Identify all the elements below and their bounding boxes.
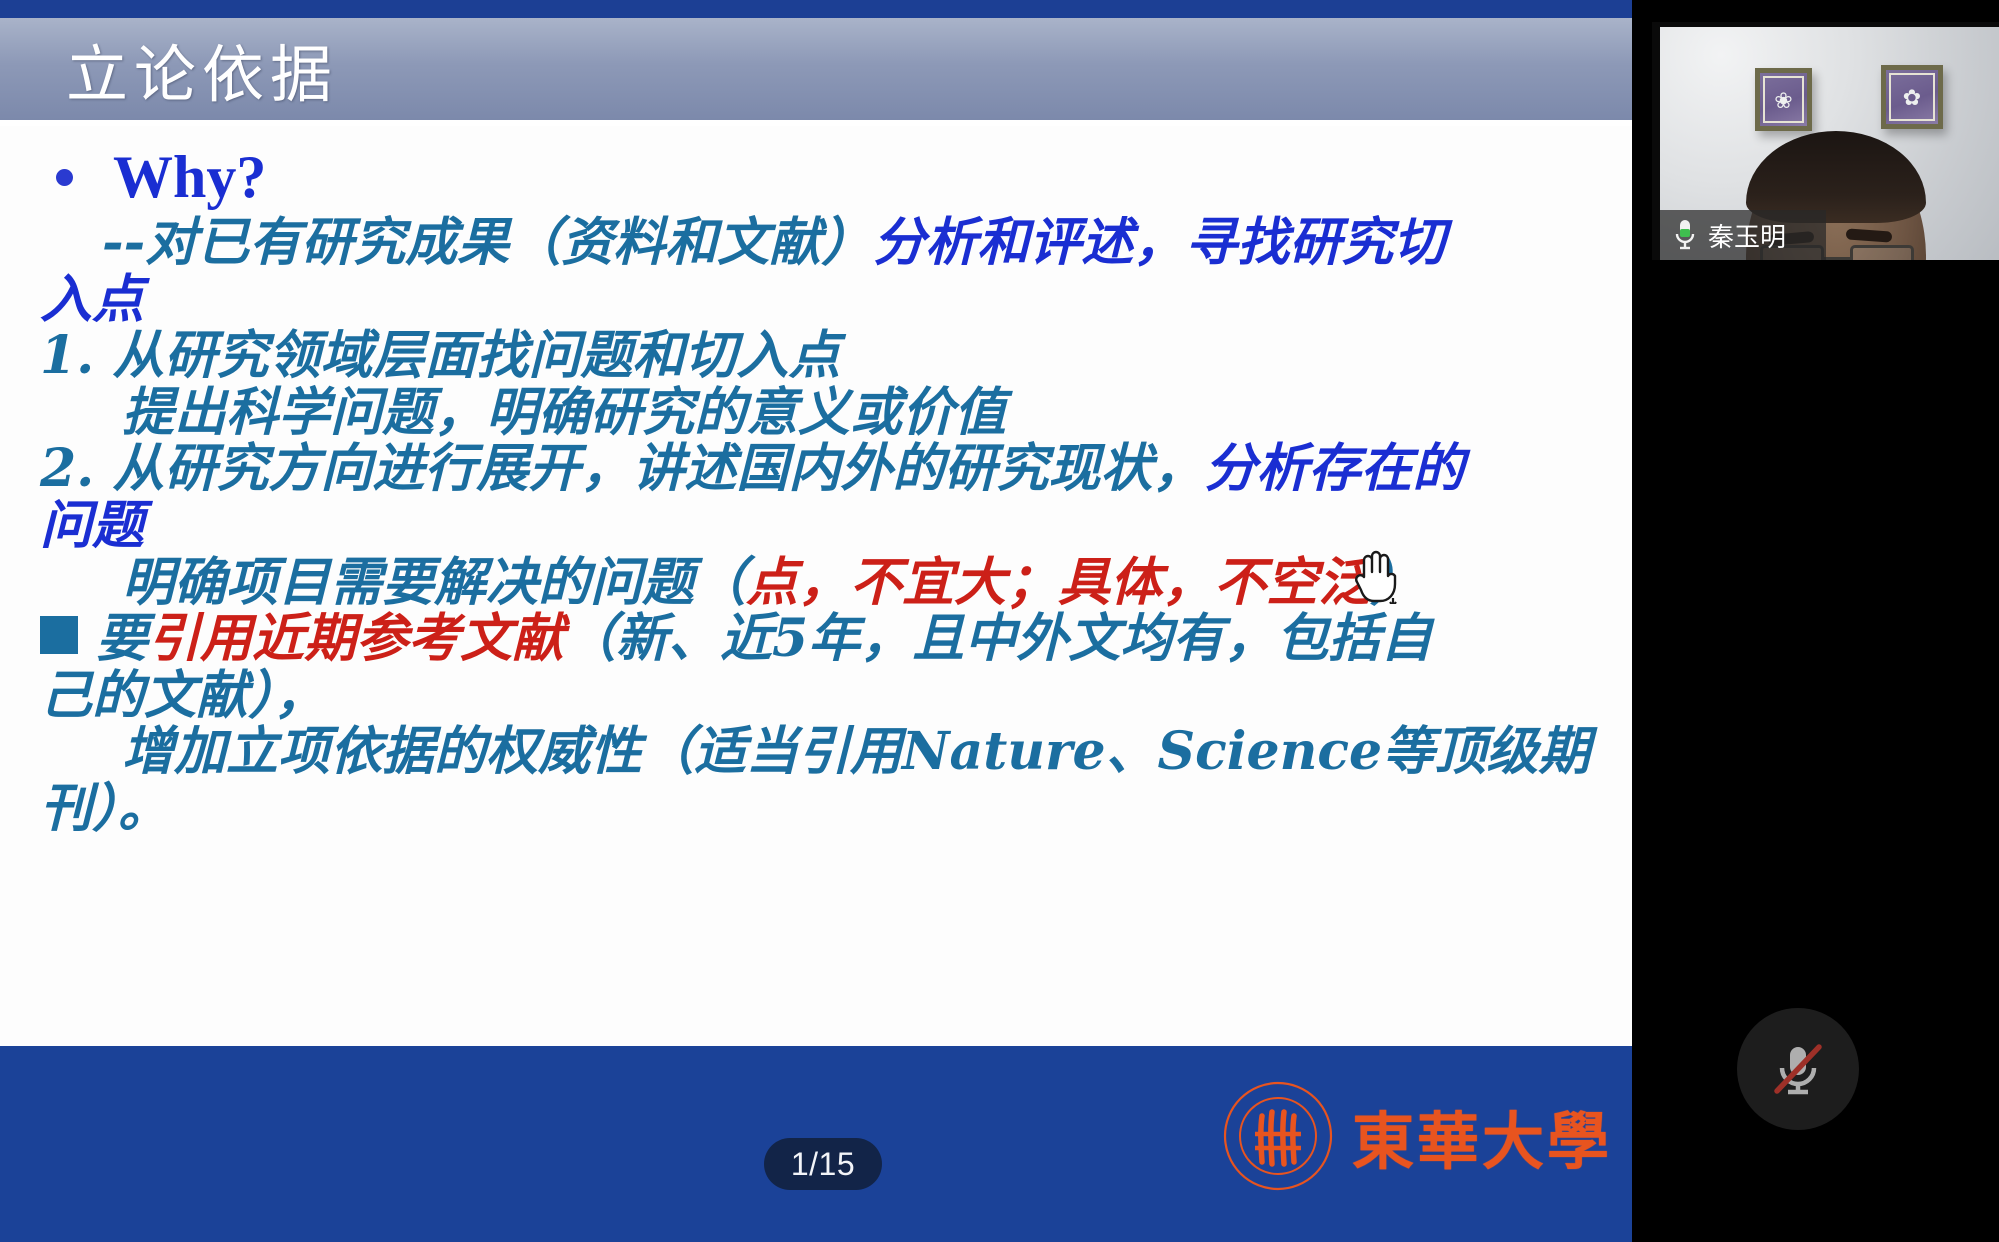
participant-video-tile[interactable]: ❀ ✿ <box>1652 22 1999 260</box>
shared-content-stage: 立论依据 Why?--对已有研究成果（资料和文献）分析和评述，寻找研究切入点1.… <box>0 0 1652 1242</box>
slide-line-item2: 2. 从研究方向进行展开，讲述国内外的研究现状，分析存在的 <box>40 442 1592 497</box>
slide-text-run: 点，不宜大；具体，不空泛 <box>746 552 1370 613</box>
microphone-muted-icon <box>1765 1036 1831 1102</box>
slide-text-run: 分析存在的 <box>1204 438 1464 499</box>
slide-line-item1b: 提出科学问题，明确研究的意义或价值 <box>40 386 1592 441</box>
slide-line-item2c: 明确项目需要解决的问题（点，不宜大；具体，不空泛） <box>40 556 1592 611</box>
slide-text-run: 己的文献）， <box>40 665 326 726</box>
slide-text-run: 提出科学问题，明确研究的意义或价值 <box>122 382 1006 443</box>
slide-text-run: 明确项目需要解决的问题（ <box>122 552 746 613</box>
slide-line-item2b: 问题 <box>40 499 1592 554</box>
university-seal-icon <box>1222 1080 1334 1192</box>
slide-line-item3d: 刊）。 <box>40 782 1592 837</box>
presentation-slide: 立论依据 Why?--对已有研究成果（资料和文献）分析和评述，寻找研究切入点1.… <box>0 0 1632 1242</box>
slide-text-block: Why?--对已有研究成果（资料和文献）分析和评述，寻找研究切入点1. 从研究领… <box>40 140 1592 837</box>
slide-text-run: 问题 <box>40 495 144 556</box>
slide-text-run: 1. 从研究领域层面找问题和切入点 <box>40 325 840 386</box>
university-wordmark: 東華大學 <box>1352 1091 1612 1181</box>
bullet-dot-icon <box>56 169 73 186</box>
slide-text-run: 入点 <box>40 269 144 330</box>
slide-line-item3c: 增加立项依据的权威性（适当引用Nature、Science等顶级期 <box>40 725 1592 780</box>
microphone-icon <box>1674 219 1696 251</box>
slide-text-run: （新、近5年，且中外文均有，包括自 <box>564 608 1432 669</box>
slide-text-run: 2. 从研究方向进行展开，讲述国内外的研究现状， <box>40 438 1204 499</box>
slide-text-run: Why? <box>113 146 266 209</box>
slide-text-run: 增加立项依据的权威性（适当引用Nature、Science等顶级期 <box>122 721 1590 782</box>
slide-line-why: Why? <box>40 140 1592 214</box>
mute-toggle-button[interactable] <box>1737 1008 1859 1130</box>
slide-text-run: --对已有研究成果（资料和文献） <box>102 212 873 273</box>
slide-line-item3: 要引用近期参考文献（新、近5年，且中外文均有，包括自 <box>40 612 1592 667</box>
slide-line-item3b: 己的文献）， <box>40 669 1592 724</box>
slide-title: 立论依据 <box>66 24 338 114</box>
zoom-shared-screen-window: 立论依据 Why?--对已有研究成果（资料和文献）分析和评述，寻找研究切入点1.… <box>0 0 1999 1242</box>
wall-picture-left: ❀ <box>1755 68 1812 131</box>
slide-text-run: 分析和评述，寻找研究切 <box>873 212 1445 273</box>
participant-name: 秦玉明 <box>1708 217 1786 254</box>
slide-text-run: 引用近期参考文献 <box>148 608 564 669</box>
slide-body: Why?--对已有研究成果（资料和文献）分析和评述，寻找研究切入点1. 从研究领… <box>0 126 1632 1046</box>
slide-page-indicator[interactable]: 1/15 <box>764 1138 882 1190</box>
picture-art-right: ✿ <box>1903 87 1921 109</box>
picture-art-left: ❀ <box>1774 90 1792 112</box>
participant-video-column: ❀ ✿ <box>1652 0 1999 1242</box>
bullet-square-icon <box>40 616 78 654</box>
slide-line-item1: 1. 从研究领域层面找问题和切入点 <box>40 329 1592 384</box>
slide-line-l2: --对已有研究成果（资料和文献）分析和评述，寻找研究切 <box>40 216 1592 271</box>
slide-line-l3: 入点 <box>40 273 1592 328</box>
wall-picture-right: ✿ <box>1881 65 1943 129</box>
donghua-university-logo: 東華大學 <box>1222 1080 1612 1192</box>
slide-text-run: ） <box>1370 552 1422 613</box>
slide-top-stripe <box>0 0 1632 18</box>
slide-title-bar: 立论依据 <box>0 18 1632 123</box>
slide-text-run: 要 <box>96 608 148 669</box>
participant-name-bar: 秦玉明 <box>1660 210 1826 260</box>
slide-text-run: 刊）。 <box>40 778 170 839</box>
